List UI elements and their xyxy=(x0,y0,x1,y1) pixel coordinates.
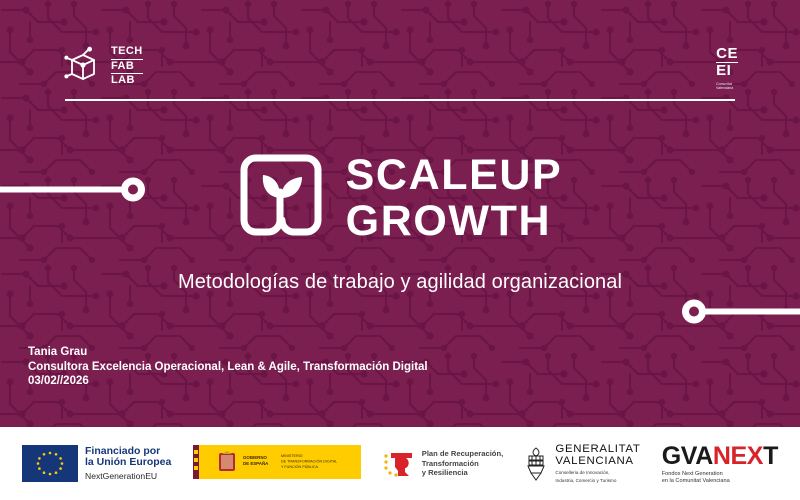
conselleria-line-1: Conselleria de Innovación, xyxy=(555,470,640,476)
gvanext-sub-line-1: Fondos Next Generation xyxy=(662,471,778,478)
presentation-slide: TECH FAB LAB CE EI Comunitat Valenciana xyxy=(0,0,800,500)
ceei-logo: CE EI Comunitat Valenciana xyxy=(716,48,738,90)
gobierno-espana-logo: GOBIERNO DE ESPAÑA MINISTERIO DE TRANSFO… xyxy=(193,444,361,484)
cube-node-icon xyxy=(64,46,104,86)
slide-subtitle: Metodologías de trabajo y agilidad organ… xyxy=(0,271,800,294)
plan-line-3: y Resiliencia xyxy=(422,468,503,478)
gvanext-sub-line-2: en la Comunitat Valenciana xyxy=(662,478,778,485)
gvanext-part-2: NEX xyxy=(713,442,763,470)
author-block: Tania Grau Consultora Excelencia Operaci… xyxy=(28,345,428,389)
eu-line-3: NextGenerationEU xyxy=(85,471,171,482)
techfablab-line-2: FAB xyxy=(111,59,143,75)
eu-line-2: la Unión Europea xyxy=(85,457,171,469)
techfablab-line-3: LAB xyxy=(111,75,143,87)
gvanext-part-1: GVA xyxy=(662,442,713,470)
gvanext-wordmark: GVANEXT xyxy=(662,443,778,469)
eu-flag-icon xyxy=(22,445,78,482)
sprout-in-rounded-square-icon xyxy=(238,152,324,244)
generalitat-valenciana-text: GENERALITAT VALENCIANA Conselleria de In… xyxy=(555,443,640,485)
generalitat-valenciana-logo: GENERALITAT VALENCIANA Conselleria de In… xyxy=(524,443,640,485)
plan-recuperacion-tr-icon xyxy=(382,449,415,479)
footer-logo-strip: Financiado por la Unión Europea NextGene… xyxy=(0,427,800,500)
plan-recuperacion-logo: Plan de Recuperación, Transformación y R… xyxy=(382,449,503,479)
ministerio-line-2: DE TRANSFORMACIÓN DIGITAL xyxy=(281,458,337,463)
eu-funding-text: Financiado por la Unión Europea NextGene… xyxy=(85,446,171,482)
generalitat-line-1: GENERALITAT xyxy=(555,443,640,455)
gvanext-part-3: T xyxy=(763,442,778,470)
ministerio-line-3: Y FUNCIÓN PÚBLICA xyxy=(281,463,319,468)
brand-title-line-1: SCALEUP xyxy=(346,152,563,198)
spain-coat-of-arms-icon: GOBIERNO DE ESPAÑA MINISTERIO DE TRANSFO… xyxy=(193,444,361,484)
brand-wordmark: SCALEUP GROWTH xyxy=(346,152,563,244)
gvanext-logo: GVANEXT Fondos Next Generation en la Com… xyxy=(662,443,778,485)
gvanext-subtitle: Fondos Next Generation en la Comunitat V… xyxy=(662,471,778,485)
author-role: Consultora Excelencia Operacional, Lean … xyxy=(28,360,428,375)
plan-recuperacion-text: Plan de Recuperación, Transformación y R… xyxy=(422,449,503,478)
author-name: Tania Grau xyxy=(28,345,428,360)
gobierno-line-1: GOBIERNO xyxy=(243,455,267,460)
ceei-mark: CE EI xyxy=(716,48,738,79)
brand-lockup: SCALEUP GROWTH xyxy=(0,152,800,244)
presentation-date: 03/02//2026 xyxy=(28,374,428,389)
techfablab-line-1: TECH xyxy=(111,46,143,58)
ceei-subtitle: Comunitat Valenciana xyxy=(716,82,738,90)
header-divider xyxy=(65,99,735,101)
techfablab-logo: TECH FAB LAB xyxy=(64,46,143,87)
ceei-mark-line-2: EI xyxy=(716,65,738,79)
plan-line-1: Plan de Recuperación, xyxy=(422,449,503,459)
ceei-mark-line-1: CE xyxy=(716,48,738,63)
gobierno-line-2: DE ESPAÑA xyxy=(243,461,269,466)
brand-title-line-2: GROWTH xyxy=(346,198,563,244)
connector-line-right xyxy=(682,298,800,326)
plan-line-2: Transformación xyxy=(422,459,503,469)
ministerio-line-1: MINISTERIO xyxy=(281,454,303,458)
generalitat-valenciana-crest-icon xyxy=(524,447,548,481)
conselleria-line-2: Industria, Comercio y Turismo xyxy=(555,478,640,484)
generalitat-line-2: VALENCIANA xyxy=(555,455,640,467)
eu-funding-logo: Financiado por la Unión Europea NextGene… xyxy=(22,445,171,482)
ceei-sub-line-2: Valenciana xyxy=(716,86,738,90)
techfablab-wordmark: TECH FAB LAB xyxy=(111,46,143,87)
